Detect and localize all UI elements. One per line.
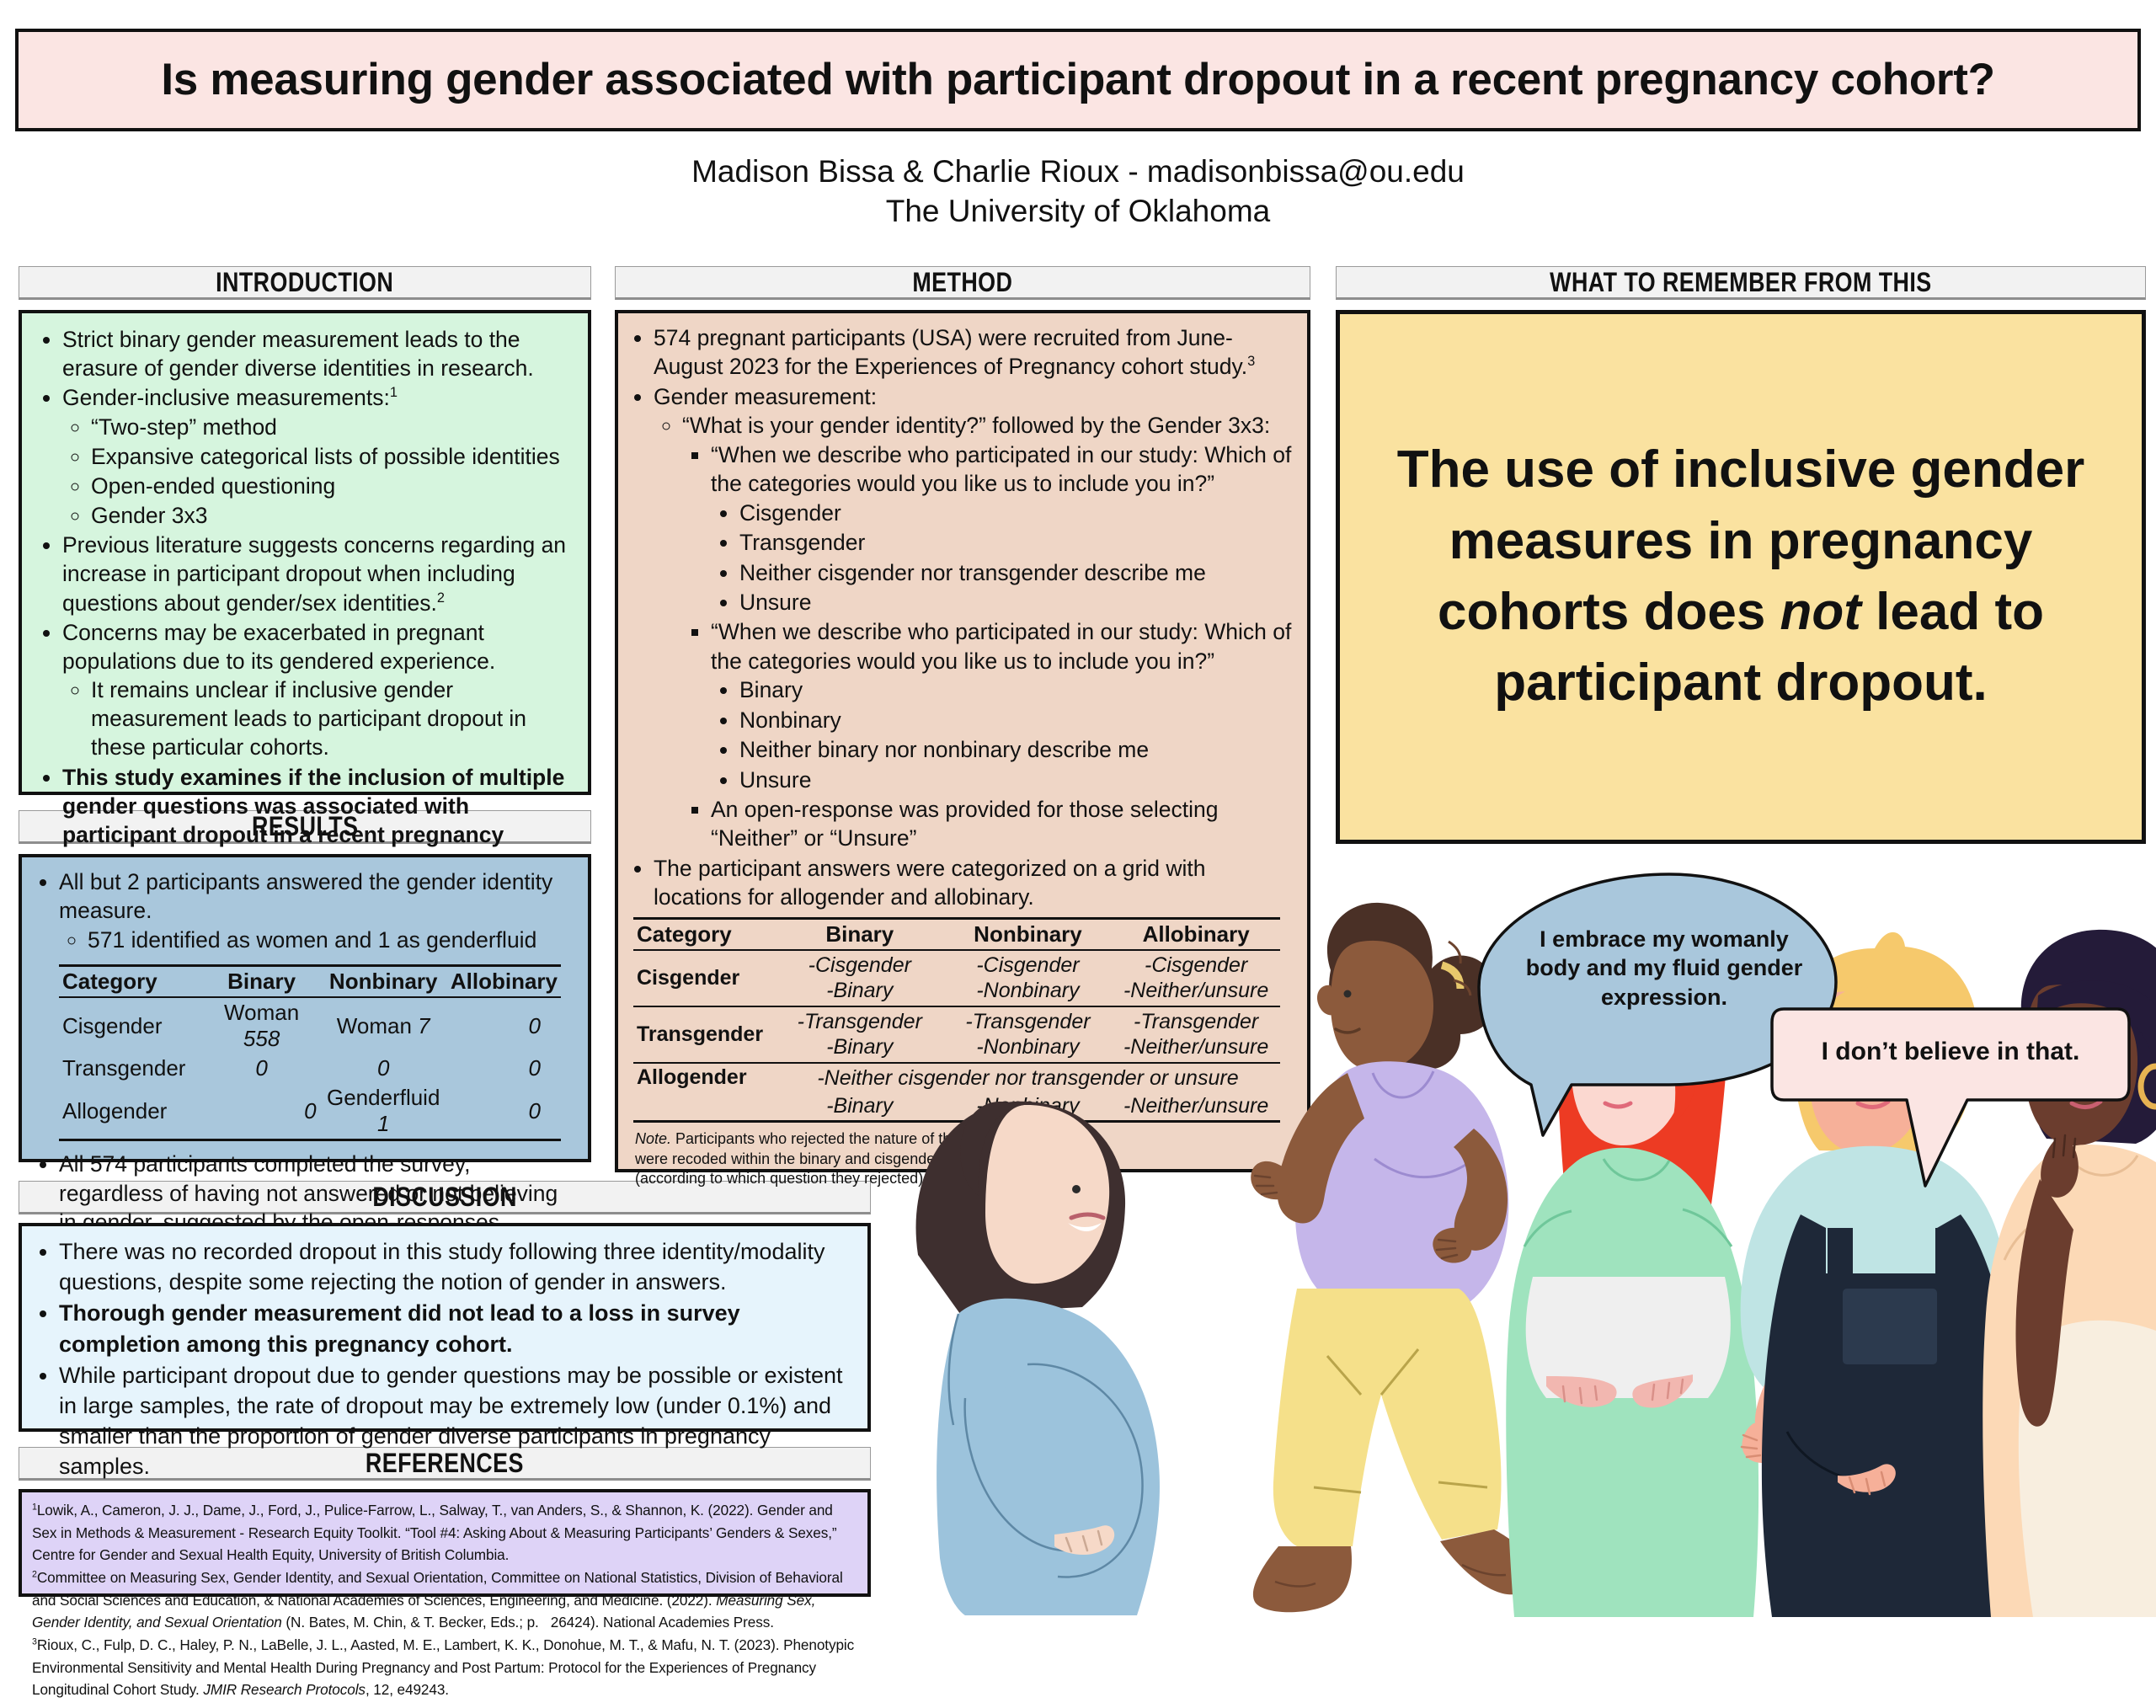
intro-ref-sup-1: 1 bbox=[390, 386, 398, 401]
method-bullet-2-text: Gender measurement: bbox=[654, 384, 877, 409]
method-option: Binary bbox=[739, 675, 1297, 704]
references-panel: 1Lowik, A., Cameron, J. J., Dame, J., Fo… bbox=[19, 1489, 871, 1597]
method-option: Transgender bbox=[739, 528, 1297, 557]
results-cell-nonbinary-word: Woman bbox=[337, 1013, 412, 1038]
key-takeaway-text: The use of inclusive gender measures in … bbox=[1340, 435, 2142, 718]
results-col-binary: Binary bbox=[204, 966, 320, 998]
results-row-label: Cisgender bbox=[59, 997, 204, 1054]
results-panel: All but 2 participants answered the gend… bbox=[19, 854, 591, 1162]
page-title: Is measuring gender associated with part… bbox=[161, 56, 1994, 104]
affiliation: The University of Oklahoma bbox=[0, 191, 2156, 231]
method-question-1: “When we describe who participated in ou… bbox=[711, 440, 1297, 617]
discussion-bullet-2: Thorough gender measurement did not lead… bbox=[59, 1298, 854, 1358]
speech-bubble-pink-text: I don’t believe in that. bbox=[1769, 1036, 2132, 1068]
method-question-2: “When we describe who participated in ou… bbox=[711, 617, 1297, 794]
reference-item: 3Rioux, C., Fulp, D. C., Haley, P. N., L… bbox=[32, 1634, 857, 1701]
section-header-method: METHOD bbox=[615, 266, 1310, 300]
intro-subitem: “Two-step” method bbox=[91, 413, 573, 441]
table-row: Allogender 0 Genderfluid 1 0 bbox=[59, 1083, 561, 1140]
intro-bullet-3: Previous literature suggests concerns re… bbox=[62, 531, 573, 617]
results-cell-allobinary: 0 bbox=[447, 1083, 561, 1140]
discussion-bullet-1: There was no recorded dropout in this st… bbox=[59, 1236, 854, 1297]
intro-bullet-4: Concerns may be exacerbated in pregnant … bbox=[62, 618, 573, 762]
method-bullet-2: Gender measurement: “What is your gender… bbox=[654, 382, 1297, 853]
method-col-category: Category bbox=[633, 918, 776, 950]
method-option: Neither cisgender nor transgender descri… bbox=[739, 558, 1297, 587]
method-option-text: Nonbinary bbox=[739, 707, 841, 733]
discussion-bullet-3: While participant dropout due to gender … bbox=[59, 1360, 854, 1482]
results-cell-binary-n: 0 bbox=[204, 1083, 320, 1140]
discussion-bullet-3-text: While participant dropout due to gender … bbox=[59, 1363, 843, 1480]
figure-blue-dress bbox=[916, 1102, 1160, 1615]
method-option-text: Unsure bbox=[739, 767, 811, 793]
table-row: Cisgender Woman 558 Woman 7 0 bbox=[59, 997, 561, 1054]
intro-subitem: Open-ended questioning bbox=[91, 472, 573, 500]
results-col-allobinary: Allobinary bbox=[447, 966, 561, 998]
method-option-text: Binary bbox=[739, 677, 803, 702]
intro-subitem-text: Open-ended questioning bbox=[91, 473, 335, 499]
results-bullet-1-text: All but 2 participants answered the gend… bbox=[59, 869, 552, 923]
results-cell-binary-word: Woman bbox=[224, 1000, 299, 1025]
method-subitem-question: “What is your gender identity?” followed… bbox=[682, 411, 1297, 853]
method-bullet-1: 574 pregnant participants (USA) were rec… bbox=[654, 323, 1297, 382]
results-subitem-text: 571 identified as women and 1 as genderf… bbox=[88, 927, 536, 953]
method-ref-sup-3: 3 bbox=[1247, 355, 1255, 370]
intro-bullet-2: Gender-inclusive measurements:1 “Two-ste… bbox=[62, 383, 573, 530]
method-option-text: Neither cisgender nor transgender descri… bbox=[739, 560, 1206, 585]
intro-ref-sup-2: 2 bbox=[437, 590, 445, 606]
method-option: Cisgender bbox=[739, 499, 1297, 527]
method-open-response: An open-response was provided for those … bbox=[711, 795, 1297, 853]
author-block: Madison Bissa & Charlie Rioux - madisonb… bbox=[0, 152, 2156, 232]
poster-title-bar: Is measuring gender associated with part… bbox=[15, 29, 2141, 131]
key-takeaway-emphasis: not bbox=[1780, 583, 1861, 641]
author-names: Madison Bissa & Charlie Rioux - madisonb… bbox=[0, 152, 2156, 191]
results-cell-binary-n: 558 bbox=[243, 1026, 280, 1051]
discussion-bullet-2-text: Thorough gender measurement did not lead… bbox=[59, 1300, 740, 1356]
results-row-label: Transgender bbox=[59, 1054, 204, 1083]
method-row-label: Cisgender bbox=[633, 950, 776, 1006]
method-option-text: Transgender bbox=[739, 530, 865, 555]
method-option: Unsure bbox=[739, 766, 1297, 794]
section-header-key-takeaway-label: WHAT TO REMEMBER FROM THIS bbox=[1550, 267, 1931, 298]
results-cell-nonbinary-n: 1 bbox=[377, 1111, 389, 1136]
discussion-panel: There was no recorded dropout in this st… bbox=[19, 1223, 871, 1432]
results-table: Category Binary Nonbinary Allobinary Cis… bbox=[59, 964, 561, 1141]
results-cell-nonbinary-word: Genderfluid bbox=[327, 1085, 440, 1110]
method-option: Neither binary nor nonbinary describe me bbox=[739, 735, 1297, 764]
method-bullet-1-text: 574 pregnant participants (USA) were rec… bbox=[654, 325, 1247, 379]
intro-subitem: Gender 3x3 bbox=[91, 501, 573, 530]
section-header-method-label: METHOD bbox=[913, 267, 1013, 298]
intro-bullet-2-text: Gender-inclusive measurements: bbox=[62, 385, 390, 410]
results-cell-allobinary: 0 bbox=[447, 997, 561, 1054]
method-option-text: Cisgender bbox=[739, 500, 841, 526]
results-cell-allobinary: 0 bbox=[447, 1054, 561, 1083]
reference-item: 1Lowik, A., Cameron, J. J., Dame, J., Fo… bbox=[32, 1499, 857, 1567]
results-cell-nonbinary-n: 7 bbox=[418, 1013, 430, 1038]
method-question-2-text: “When we describe who participated in ou… bbox=[711, 619, 1291, 673]
method-row-label: Transgender bbox=[633, 1006, 776, 1063]
intro-bullet-3-text: Previous literature suggests concerns re… bbox=[62, 532, 566, 615]
intro-bullet-1-text: Strict binary gender measurement leads t… bbox=[62, 327, 534, 381]
intro-subitem: Expansive categorical lists of possible … bbox=[91, 442, 573, 471]
results-col-nonbinary: Nonbinary bbox=[320, 966, 447, 998]
results-row-label: Allogender bbox=[59, 1083, 204, 1140]
results-cell-nonbinary-n: 0 bbox=[320, 1054, 447, 1083]
reference-journal-italic: JMIR Research Protocols bbox=[203, 1681, 366, 1698]
method-option-text: Neither binary nor nonbinary describe me bbox=[739, 737, 1149, 762]
table-row: Transgender 0 0 0 bbox=[59, 1054, 561, 1083]
section-header-introduction: INTRODUCTION bbox=[19, 266, 591, 300]
intro-subitem-text: “Two-step” method bbox=[91, 414, 277, 440]
results-bullet-1: All but 2 participants answered the gend… bbox=[59, 867, 576, 954]
speech-bubble-pink: I don’t believe in that. bbox=[1769, 1004, 2132, 1198]
introduction-panel: Strict binary gender measurement leads t… bbox=[19, 310, 591, 795]
results-subitem: 571 identified as women and 1 as genderf… bbox=[88, 926, 576, 954]
method-row-label: Allogender bbox=[633, 1063, 776, 1092]
method-subitem-question-text: “What is your gender identity?” followed… bbox=[682, 413, 1270, 438]
section-header-key-takeaway: WHAT TO REMEMBER FROM THIS bbox=[1336, 266, 2146, 300]
intro-bullet-4-text: Concerns may be exacerbated in pregnant … bbox=[62, 620, 495, 674]
results-col-category: Category bbox=[59, 966, 204, 998]
method-option: Nonbinary bbox=[739, 706, 1297, 734]
intro-subitem-text: Expansive categorical lists of possible … bbox=[91, 444, 560, 469]
results-cell-binary-n: 0 bbox=[204, 1054, 320, 1083]
method-note-label: Note. bbox=[635, 1130, 671, 1147]
intro-bullet-1: Strict binary gender measurement leads t… bbox=[62, 325, 573, 382]
method-open-response-text: An open-response was provided for those … bbox=[711, 797, 1219, 851]
method-option-text: Unsure bbox=[739, 590, 811, 615]
method-question-1-text: “When we describe who participated in ou… bbox=[711, 442, 1291, 496]
intro-subitem-text: Gender 3x3 bbox=[91, 503, 207, 528]
key-takeaway-panel: The use of inclusive gender measures in … bbox=[1336, 310, 2146, 844]
reference-item: 2Committee on Measuring Sex, Gender Iden… bbox=[32, 1567, 857, 1634]
reference-text-post: (N. Bates, M. Chin, & T. Becker, Eds.; p… bbox=[282, 1614, 774, 1631]
intro-subitem: It remains unclear if inclusive gender m… bbox=[91, 675, 573, 762]
speech-bubble-blue-text: I embrace my womanly body and my fluid g… bbox=[1474, 925, 1854, 1011]
intro-subitem-text: It remains unclear if inclusive gender m… bbox=[91, 677, 526, 760]
method-option: Unsure bbox=[739, 588, 1297, 616]
reference-text: Lowik, A., Cameron, J. J., Dame, J., For… bbox=[32, 1502, 837, 1563]
reference-text-post: , 12, e49243. bbox=[366, 1681, 449, 1698]
section-header-introduction-label: INTRODUCTION bbox=[216, 267, 393, 298]
discussion-bullet-1-text: There was no recorded dropout in this st… bbox=[59, 1239, 825, 1294]
